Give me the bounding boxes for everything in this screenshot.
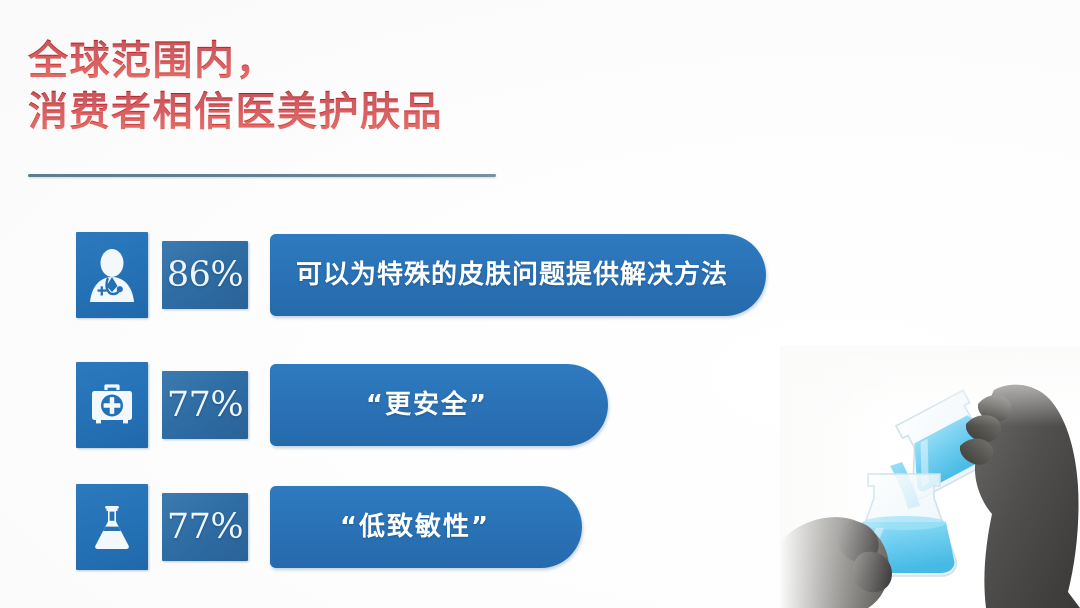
doctor-icon-tile (76, 232, 148, 318)
stat-row: 77% “更安全” (76, 362, 608, 448)
infographic-slide: 全球范围内， 消费者相信医美护肤品 (0, 0, 1080, 608)
stat-bar: “更安全” (270, 364, 608, 446)
percent-plate: 77% (162, 371, 248, 439)
title-line-2: 消费者相信医美护肤品 (28, 87, 648, 138)
flask-icon-tile (76, 484, 148, 570)
doctor-icon (87, 248, 137, 302)
percent-value: 77% (167, 388, 243, 423)
stat-label: “更安全” (366, 392, 488, 418)
medical-kit-icon-tile (76, 362, 148, 448)
stat-row: 86% 可以为特殊的皮肤问题提供解决方法 (76, 232, 766, 318)
stat-row: 77% “低致敏性” (76, 484, 582, 570)
percent-value: 86% (167, 258, 243, 293)
percent-plate: 86% (162, 241, 248, 309)
stat-bar: 可以为特殊的皮肤问题提供解决方法 (270, 234, 766, 316)
flask-icon (91, 503, 133, 551)
stat-label: “低致敏性” (340, 514, 490, 540)
medical-kit-icon (88, 383, 136, 427)
title-divider (28, 174, 496, 177)
stat-bar: “低致敏性” (270, 486, 582, 568)
title-line-1: 全球范围内， (28, 36, 648, 87)
page-title: 全球范围内， 消费者相信医美护肤品 (28, 36, 648, 138)
stat-label: 可以为特殊的皮肤问题提供解决方法 (296, 262, 728, 288)
percent-plate: 77% (162, 493, 248, 561)
percent-value: 77% (167, 510, 243, 545)
lab-hands-pouring-photo (780, 346, 1080, 608)
